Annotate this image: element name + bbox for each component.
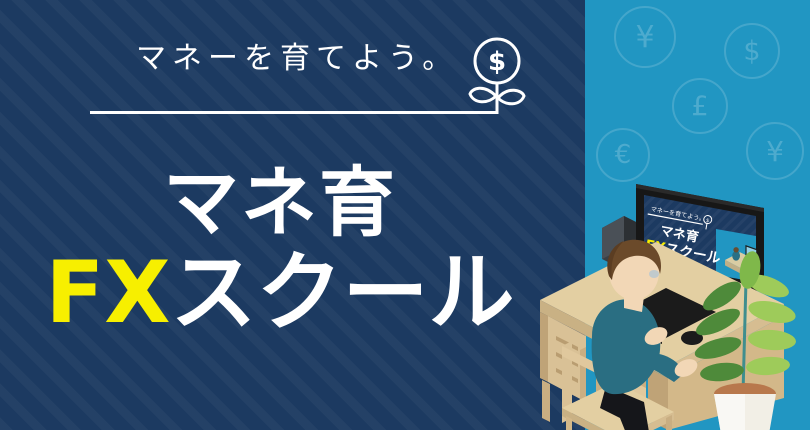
dollar-coin-icon: $ (724, 23, 780, 79)
yen-coin-icon: ¥ (614, 6, 676, 68)
coin-sprout-icon: $ (466, 36, 528, 114)
svg-text:$: $ (488, 47, 506, 77)
title-school-text: スクール (171, 243, 515, 343)
tagline-divider (90, 111, 498, 114)
page-title: マネ育 FXスクール (0, 164, 560, 337)
person-at-desk-illustration: マネーを育てよう。 $ マネ育 FXスクール (540, 150, 810, 430)
title-fx-highlight: FX (45, 243, 170, 343)
title-line-2: FXスクール (0, 250, 560, 338)
tagline-text: マネーを育てよう。 (136, 44, 458, 74)
pound-coin-icon: £ (672, 78, 728, 134)
title-line-1: マネ育 (0, 164, 560, 242)
fx-school-banner: ¥ $ £ € ¥ マネーを育てよう。 $ マネ育 FXスクール (0, 0, 810, 430)
